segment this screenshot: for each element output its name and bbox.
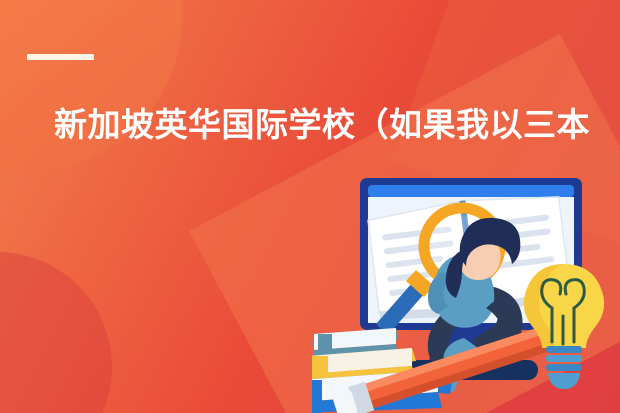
student-research-illustration [312, 168, 620, 413]
promo-banner: 新加坡英华国际学校（如果我以三本 [0, 0, 620, 413]
background-circle-orange [0, 0, 182, 172]
title-accent-rule [27, 54, 94, 60]
page-title: 新加坡英华国际学校（如果我以三本 [54, 104, 614, 146]
background-circle-bottom-left [0, 252, 112, 413]
